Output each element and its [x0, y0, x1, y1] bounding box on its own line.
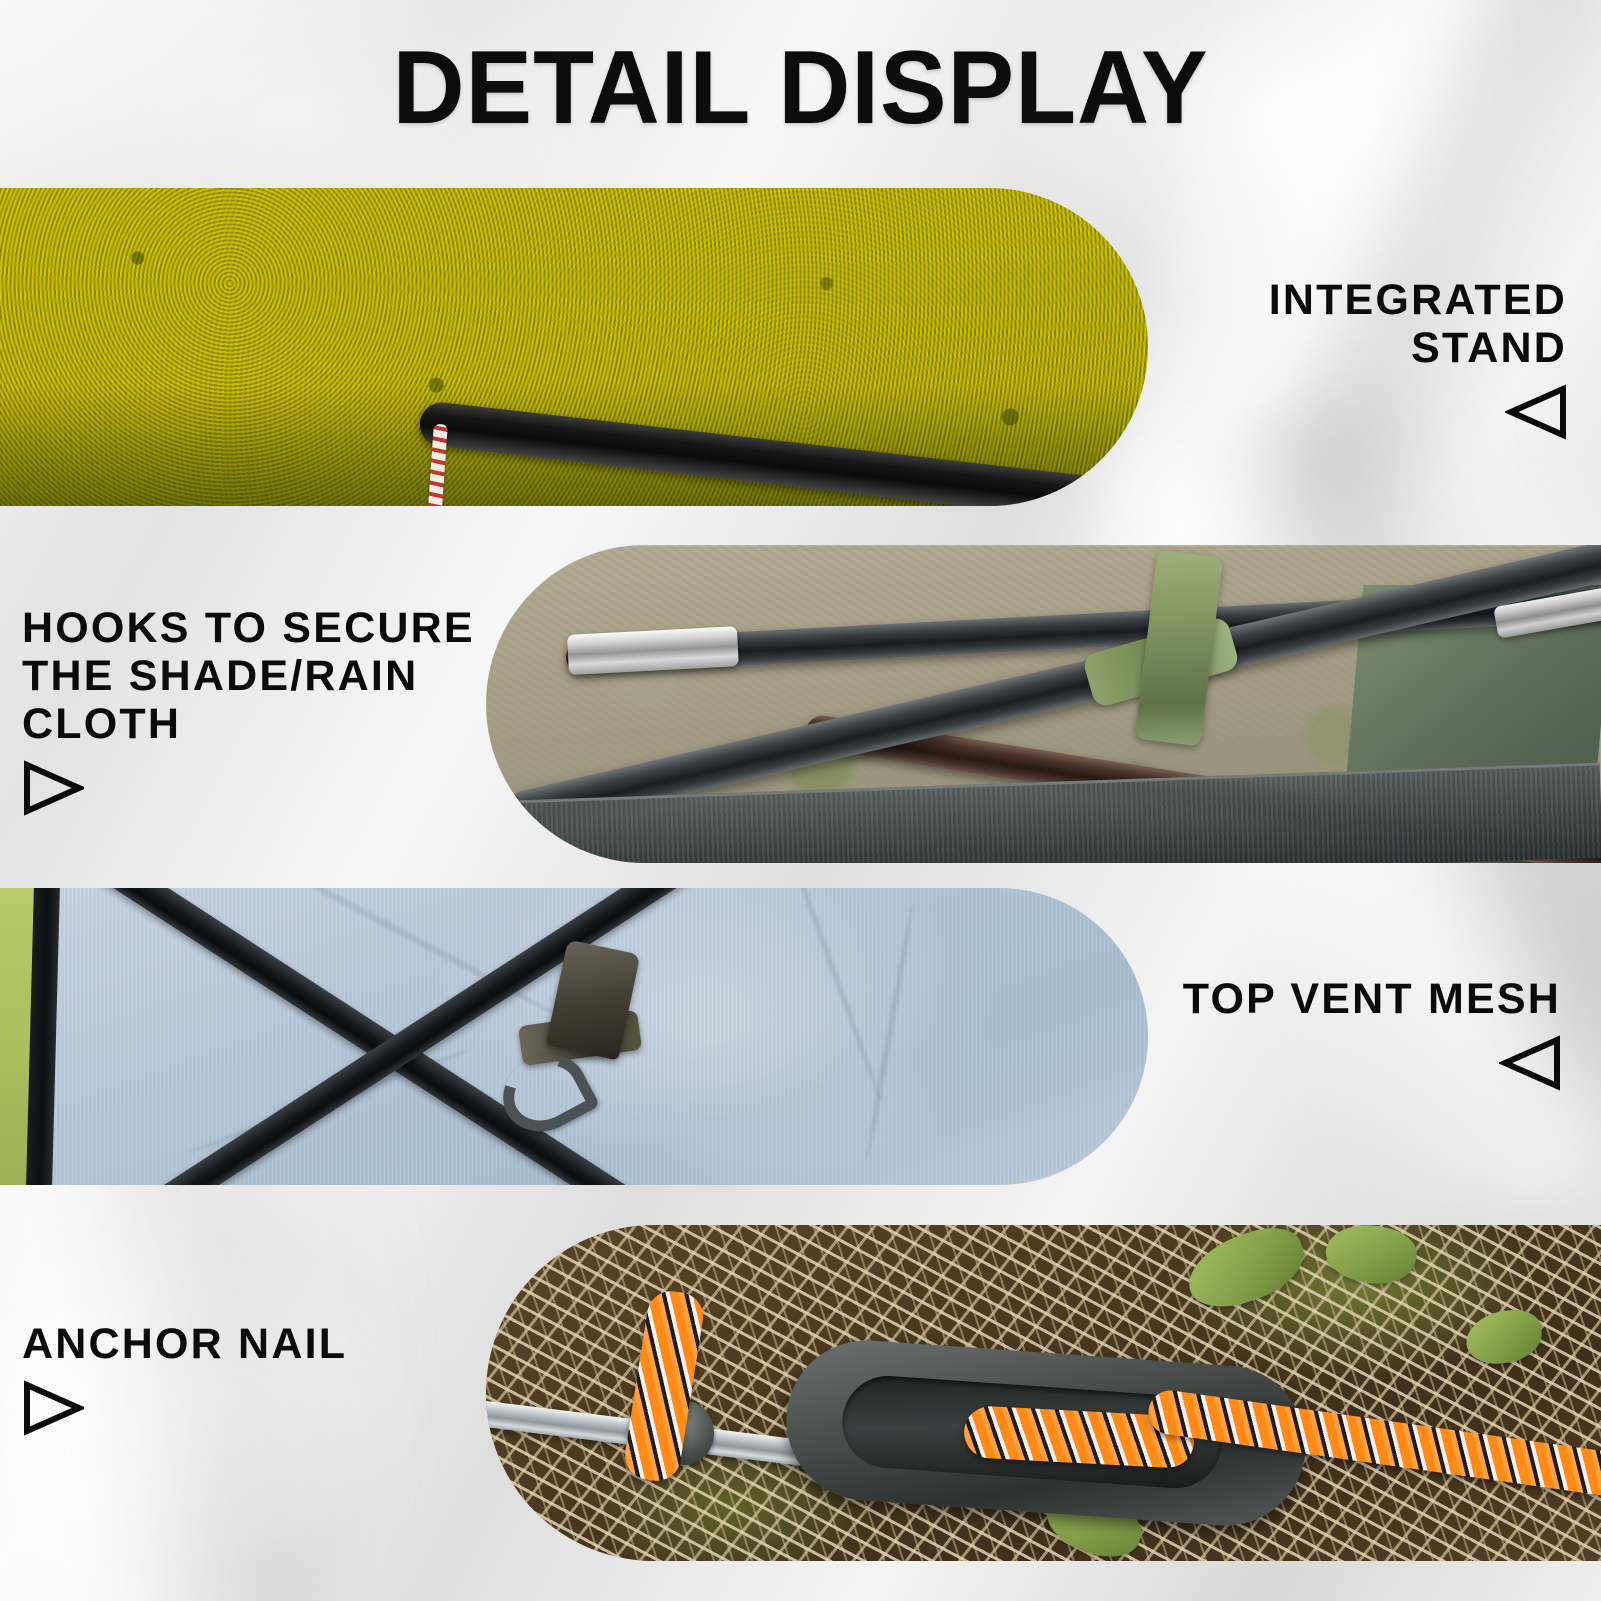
- triangle-left-icon: [1499, 1035, 1561, 1091]
- page-title: DETAIL DISPLAY: [32, 36, 1569, 140]
- feature-label-line: CLOTH: [22, 700, 582, 748]
- feature-label-line: ANCHOR NAIL: [22, 1320, 582, 1368]
- integrated-stand-photo: [0, 188, 1148, 506]
- triangle-right-icon: [22, 760, 84, 816]
- detail-display-page: DETAIL DISPLAY: [0, 0, 1601, 1601]
- feature-label-top-vent-mesh: TOP VENT MESH: [921, 975, 1561, 1096]
- triangle-left-icon: [1505, 384, 1567, 440]
- feature-label-anchor-nail: ANCHOR NAIL: [22, 1320, 582, 1441]
- feature-label-line: THE SHADE/RAIN: [22, 652, 582, 700]
- hooks-photo: [486, 545, 1601, 863]
- feature-label-line: STAND: [1007, 324, 1567, 372]
- anchor-nail-photo: [486, 1225, 1601, 1561]
- feature-label-line: INTEGRATED: [1007, 276, 1567, 324]
- feature-label-hooks: HOOKS TO SECURE THE SHADE/RAIN CLOTH: [22, 604, 582, 821]
- feature-label-integrated-stand: INTEGRATED STAND: [1007, 276, 1567, 445]
- feature-label-line: HOOKS TO SECURE: [22, 604, 582, 652]
- triangle-right-icon: [22, 1380, 84, 1436]
- feature-label-line: TOP VENT MESH: [921, 975, 1561, 1023]
